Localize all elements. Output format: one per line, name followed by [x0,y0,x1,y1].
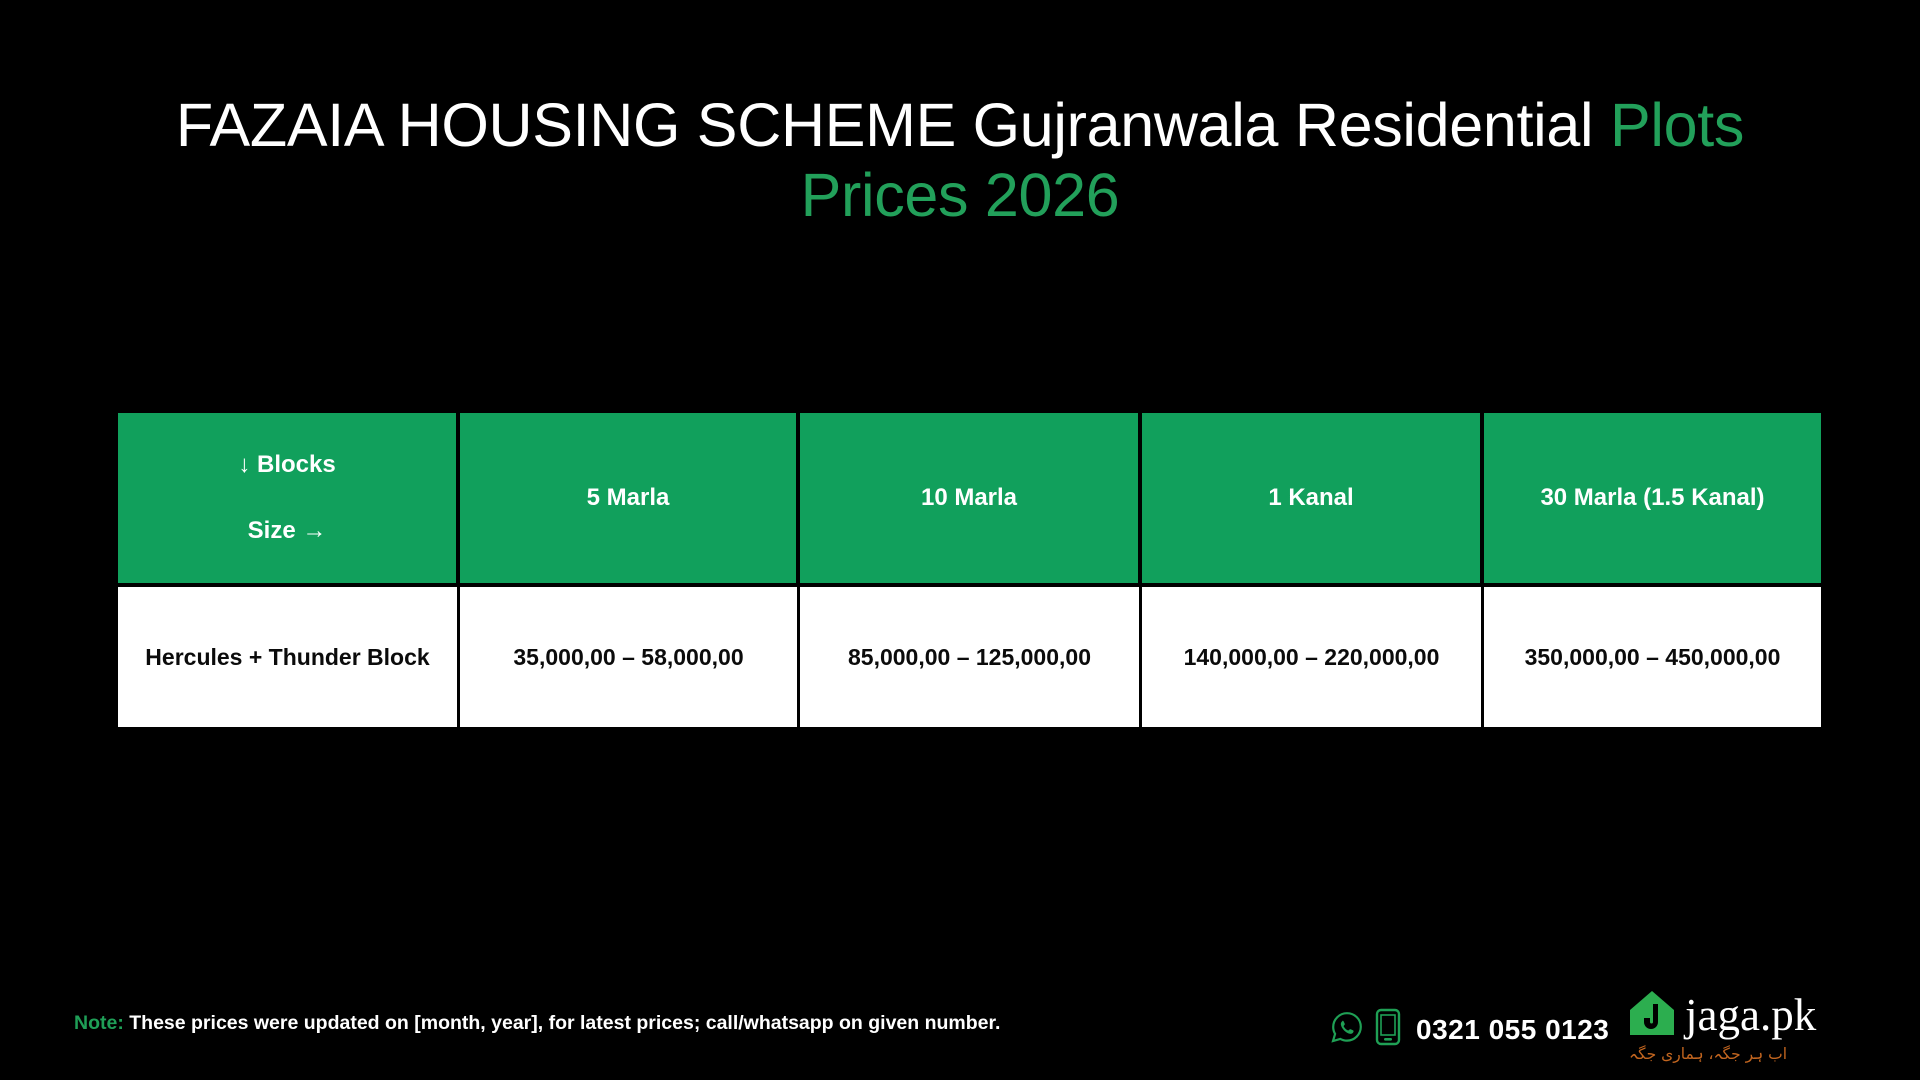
whatsapp-icon[interactable] [1330,1010,1364,1049]
logo-top-row: jaga.pk [1627,988,1816,1043]
footer-note-text: These prices were updated on [month, yea… [124,1012,1001,1034]
table-header-cell-30-marla: 30 Marla (1.5 Kanal) [1484,413,1821,583]
page-title-line1-white: FAZAIA HOUSING SCHEME Gujranwala Residen… [176,91,1610,159]
page-title: FAZAIA HOUSING SCHEME Gujranwala Residen… [0,90,1920,230]
price-table: ↓ Blocks Size → 5 Marla 10 Marla 1 Kanal… [118,413,1821,727]
table-header-row: ↓ Blocks Size → 5 Marla 10 Marla 1 Kanal… [118,413,1821,583]
page-title-text: FAZAIA HOUSING SCHEME Gujranwala Residen… [140,90,1780,230]
house-logo-icon [1627,988,1677,1043]
contact-block: 0321 055 0123 [1330,1008,1609,1051]
table-cell-block-name: Hercules + Thunder Block [118,587,460,727]
table-header-cell-5-marla: 5 Marla [460,413,800,583]
size-axis-label: Size → [248,515,327,547]
blocks-axis-label: ↓ Blocks [238,449,335,481]
table-cell-price-10-marla: 85,000,00 – 125,000,00 [800,587,1142,727]
table-header-corner-cell: ↓ Blocks Size → [118,413,460,583]
site-logo[interactable]: jaga.pk اب ہر جگہ، ہماری جگہ [1627,988,1816,1063]
logo-wordmark: jaga.pk [1685,993,1816,1038]
page-title-line2-accent: Prices 2026 [801,161,1120,229]
phone-number[interactable]: 0321 055 0123 [1416,1014,1609,1046]
table-cell-price-5-marla: 35,000,00 – 58,000,00 [460,587,800,727]
table-row: Hercules + Thunder Block 35,000,00 – 58,… [118,587,1821,727]
footer-note-label: Note: [74,1012,124,1034]
table-header-cell-1-kanal: 1 Kanal [1142,413,1484,583]
footer-note: Note: These prices were updated on [mont… [74,1012,1000,1035]
mobile-phone-icon[interactable] [1375,1008,1401,1051]
table-cell-price-1-kanal: 140,000,00 – 220,000,00 [1142,587,1484,727]
page-title-line1-accent: Plots [1610,91,1744,159]
table-cell-price-30-marla: 350,000,00 – 450,000,00 [1484,587,1821,727]
logo-tagline: اب ہر جگہ، ہماری جگہ [1629,1046,1787,1063]
table-header-cell-10-marla: 10 Marla [800,413,1142,583]
